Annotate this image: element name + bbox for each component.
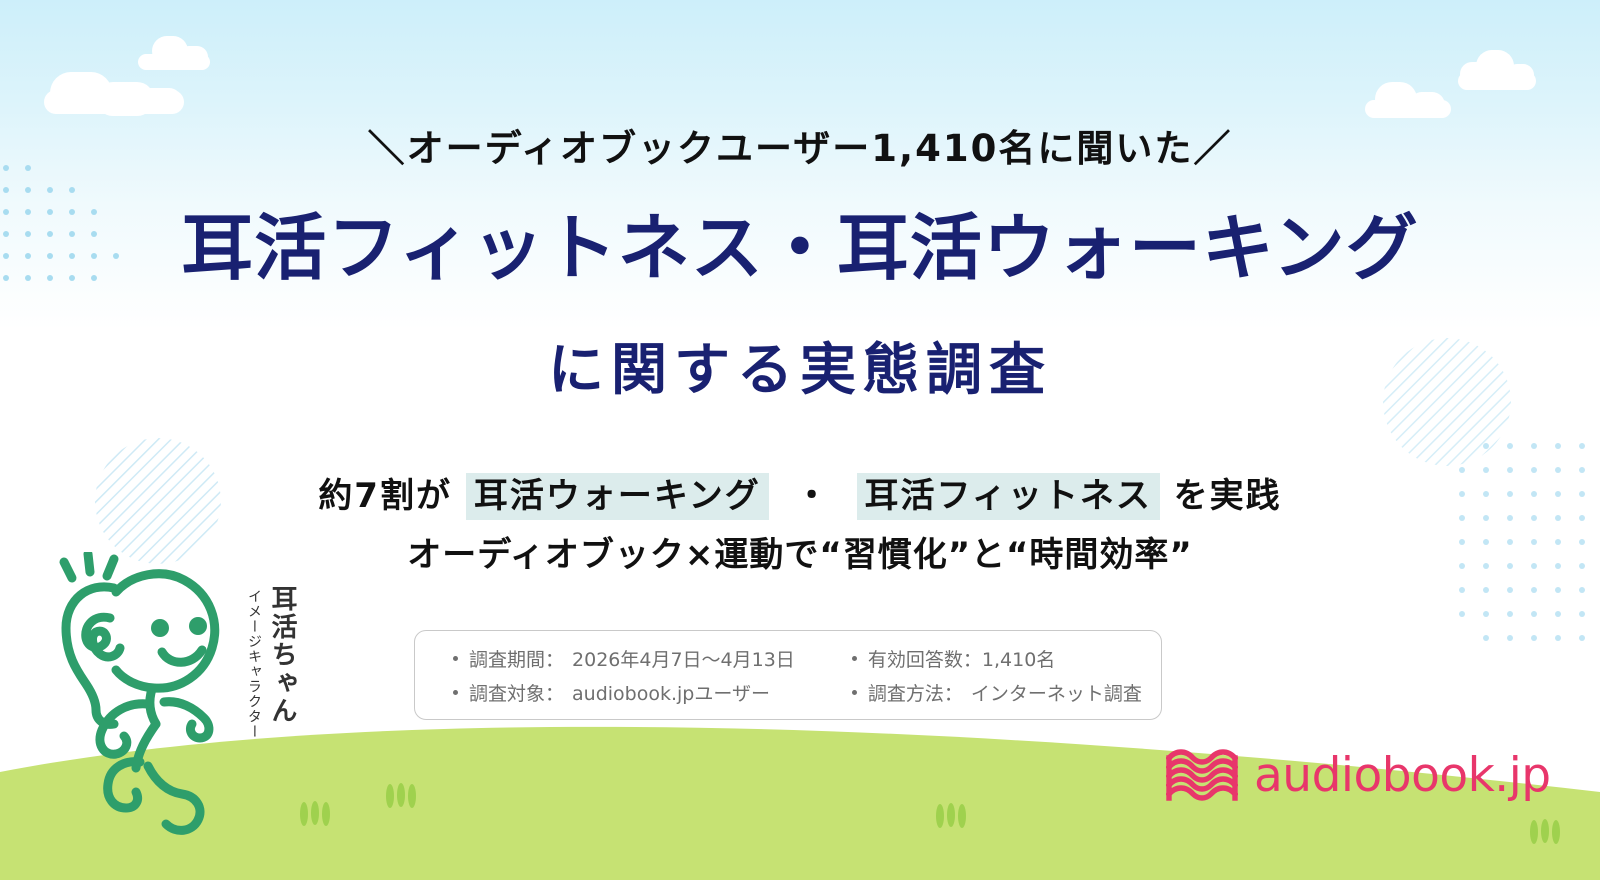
mascot-role-label: イメージキャラクター (244, 589, 264, 739)
survey-target-label: 調査対象： (469, 679, 564, 706)
subtitle-prefix: 約7割が (318, 476, 452, 516)
survey-info-column-left: 調査期間： 2026年4月7日〜4月13日 調査対象： audiobook.jp… (415, 645, 834, 706)
grass-tuft-3 (934, 802, 968, 830)
subtitle-line-1: 約7割が 耳活ウォーキング ・ 耳活フィットネス を実践 (0, 468, 1600, 517)
survey-period-value: 2026年4月7日〜4月13日 (572, 645, 795, 672)
cloud-right-2 (1458, 50, 1536, 90)
cloud-top-center (138, 36, 210, 70)
survey-info-box: 調査期間： 2026年4月7日〜4月13日 調査対象： audiobook.jp… (414, 630, 1162, 720)
cloud-left (44, 64, 184, 114)
list-item: 調査期間： 2026年4月7日〜4月13日 (453, 645, 834, 672)
infographic-canvas: ＼オーディオブックユーザー1,410名に聞いた／ 耳活フィットネス・耳活ウォーキ… (0, 0, 1600, 880)
grass-tuft-4 (1528, 818, 1562, 846)
list-item: 有効回答数： 1,410名 (852, 645, 1161, 672)
audiobook-logo[interactable]: audiobook.jp (1166, 740, 1506, 810)
page-title-line-2: に関する実態調査 (0, 325, 1600, 406)
subtitle-highlight-fitness: 耳活フィットネス (857, 473, 1160, 520)
mascot-label: 耳活ちゃん イメージキャラクター (240, 585, 301, 755)
bullet-icon (453, 690, 458, 695)
cloud-right-1 (1365, 80, 1451, 118)
open-book-icon (1166, 746, 1238, 804)
subtitle-suffix: を実践 (1174, 476, 1282, 516)
grass-tuft-2 (384, 782, 418, 810)
survey-method-value: インターネット調査 (971, 679, 1142, 706)
page-title-line-1: 耳活フィットネス・耳活ウォーキング (0, 210, 1600, 286)
mascot-name: 耳活ちゃん (264, 585, 301, 725)
list-item: 調査方法： インターネット調査 (852, 679, 1161, 706)
valid-responses-label: 有効回答数： (868, 645, 982, 672)
bullet-icon (453, 656, 458, 661)
grass-tuft-1 (298, 800, 332, 828)
valid-responses-value: 1,410名 (982, 645, 1055, 672)
survey-target-value: audiobook.jpユーザー (572, 679, 770, 706)
logo-text: audiobook.jp (1254, 752, 1551, 799)
walking-ear-character-icon (52, 552, 262, 852)
survey-method-label: 調査方法： (868, 679, 963, 706)
bullet-icon (852, 690, 857, 695)
subtitle-separator: ・ (783, 476, 843, 516)
bullet-icon (852, 656, 857, 661)
survey-period-label: 調査期間： (469, 645, 564, 672)
eyebrow-text: ＼オーディオブックユーザー1,410名に聞いた／ (0, 118, 1600, 172)
subtitle-highlight-walking: 耳活ウォーキング (466, 473, 769, 520)
survey-info-column-right: 有効回答数： 1,410名 調査方法： インターネット調査 (834, 645, 1161, 706)
list-item: 調査対象： audiobook.jpユーザー (453, 679, 834, 706)
